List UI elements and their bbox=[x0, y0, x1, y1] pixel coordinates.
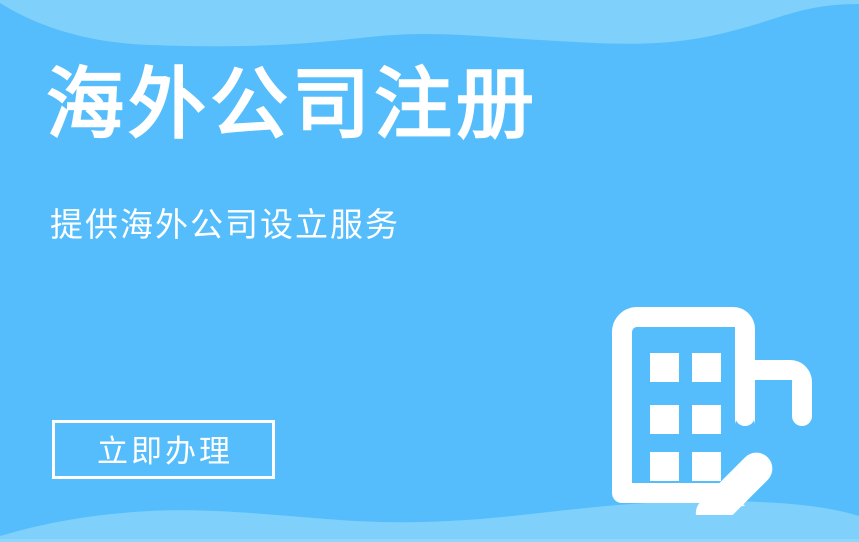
office-building-with-pencil-icon bbox=[605, 300, 820, 515]
building-right-wing-left-post-icon bbox=[735, 360, 755, 426]
building-group-icon bbox=[612, 307, 812, 503]
building-window-icon bbox=[692, 405, 721, 434]
building-left-wall-icon bbox=[612, 330, 632, 495]
apply-now-button[interactable]: 立即办理 bbox=[52, 420, 275, 479]
building-window-icon bbox=[692, 452, 721, 481]
page-title: 海外公司注册 bbox=[46, 62, 538, 146]
building-window-icon bbox=[650, 405, 679, 434]
building-window-icon bbox=[692, 353, 721, 382]
banner-subtitle: 提供海外公司设立服务 bbox=[50, 205, 400, 245]
building-right-wing-icon bbox=[745, 360, 812, 426]
overseas-company-registration-banner: 海外公司注册 提供海外公司设立服务 立即办理 bbox=[0, 0, 859, 542]
building-window-icon bbox=[650, 353, 679, 382]
building-window-icon bbox=[650, 452, 679, 481]
